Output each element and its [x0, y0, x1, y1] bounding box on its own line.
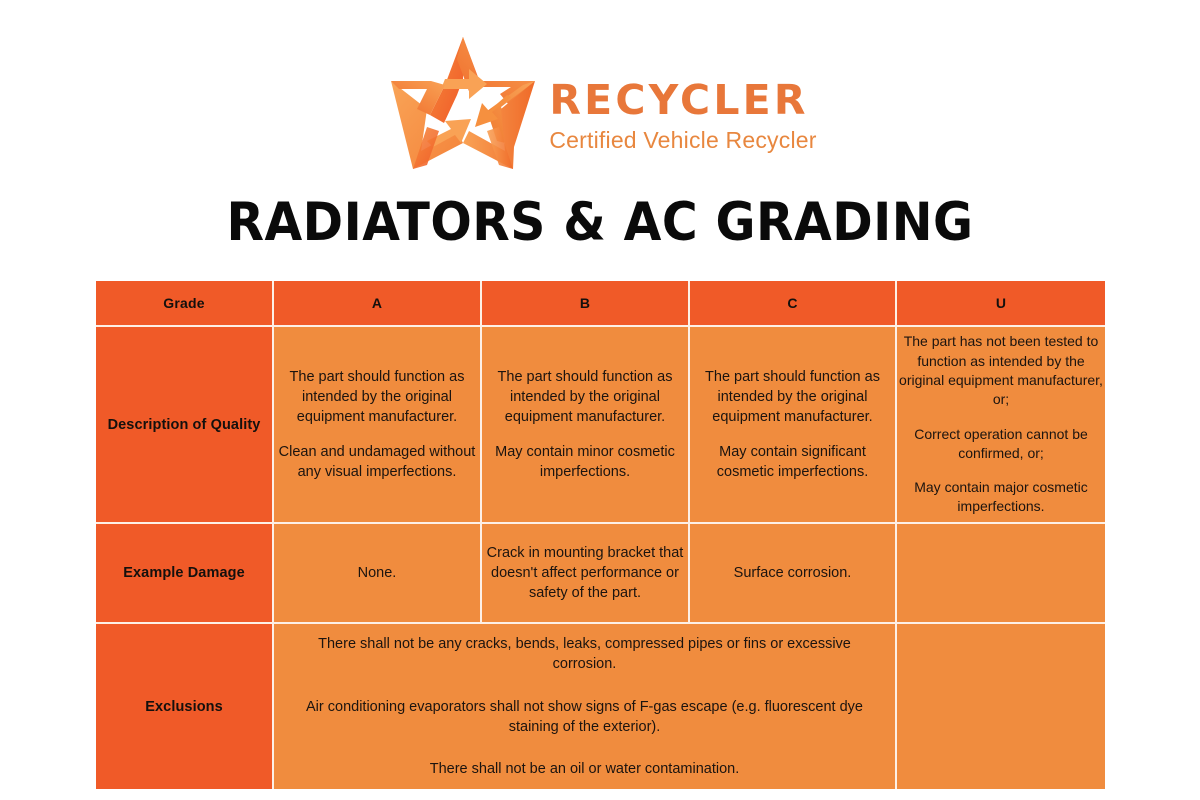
cell-paragraph: Air conditioning evaporators shall not s…: [298, 697, 871, 738]
cell-paragraph: The part should function as intended by …: [690, 367, 895, 427]
page-title: RADIATORS & AC GRADING: [48, 192, 1152, 253]
cell-exclusions-abc: There shall not be any cracks, bends, le…: [274, 624, 897, 789]
cell-paragraph: May contain major cosmetic imperfections…: [897, 478, 1105, 517]
cell-example-damage-a: None.: [274, 524, 482, 624]
cell-exclusions-u: [897, 624, 1105, 789]
table-row: Exclusions There shall not be any cracks…: [96, 624, 1105, 789]
table-row: Description of Quality The part should f…: [96, 327, 1105, 524]
column-header-c: C: [690, 281, 897, 327]
recycling-star-icon: [383, 31, 543, 176]
row-label-example-damage: Example Damage: [96, 524, 274, 624]
cell-paragraph: None.: [274, 563, 480, 583]
cell-description-u: The part has not been tested to function…: [897, 327, 1105, 524]
cell-paragraph: May contain significant cosmetic imperfe…: [690, 442, 895, 482]
cell-paragraph: There shall not be an oil or water conta…: [298, 759, 871, 779]
cell-paragraph: Crack in mounting bracket that doesn't a…: [482, 543, 688, 603]
logo-wordmark-group: RECYCLER Certified Vehicle Recycler: [549, 53, 816, 153]
column-header-grade: Grade: [96, 281, 274, 327]
cell-example-damage-u: [897, 524, 1105, 624]
cell-paragraph: Correct operation cannot be confirmed, o…: [897, 425, 1105, 464]
cell-paragraph: May contain minor cosmetic imperfections…: [482, 442, 688, 482]
grading-page: RECYCLER Certified Vehicle Recycler RADI…: [0, 0, 1200, 800]
cell-example-damage-b: Crack in mounting bracket that doesn't a…: [482, 524, 690, 624]
cell-paragraph: The part should function as intended by …: [482, 367, 688, 427]
cell-paragraph: Surface corrosion.: [690, 563, 895, 583]
cell-description-c: The part should function as intended by …: [690, 327, 897, 524]
table-row: Example Damage None. Crack in mounting b…: [96, 524, 1105, 624]
brand-logo: RECYCLER Certified Vehicle Recycler: [0, 28, 1200, 178]
cell-paragraph: There shall not be any cracks, bends, le…: [298, 634, 871, 675]
cell-paragraph: The part has not been tested to function…: [897, 332, 1105, 409]
row-label-exclusions: Exclusions: [96, 624, 274, 789]
grading-table: Grade A B C U Description of Quality The…: [96, 281, 1105, 789]
cell-paragraph: The part should function as intended by …: [274, 367, 480, 427]
cell-description-a: The part should function as intended by …: [274, 327, 482, 524]
cell-description-b: The part should function as intended by …: [482, 327, 690, 524]
table-header-row: Grade A B C U: [96, 281, 1105, 327]
column-header-a: A: [274, 281, 482, 327]
cell-example-damage-c: Surface corrosion.: [690, 524, 897, 624]
logo-wordmark: RECYCLER: [549, 79, 808, 122]
cell-paragraph: Clean and undamaged without any visual i…: [274, 442, 480, 482]
row-label-description-of-quality: Description of Quality: [96, 327, 274, 524]
column-header-b: B: [482, 281, 690, 327]
logo-tagline: Certified Vehicle Recycler: [549, 128, 816, 153]
column-header-u: U: [897, 281, 1105, 327]
